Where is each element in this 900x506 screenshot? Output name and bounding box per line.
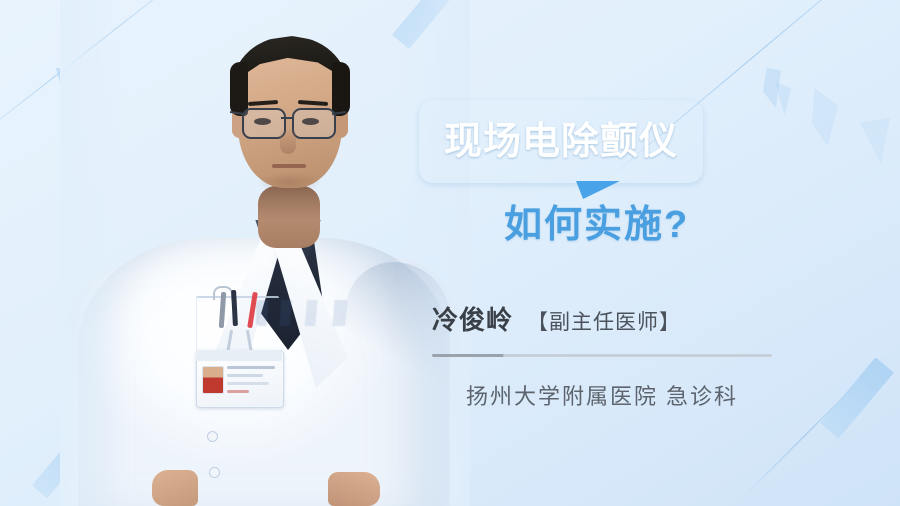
- hair-side-left: [230, 62, 248, 116]
- wedge-shape-right-c: [812, 88, 838, 146]
- id-badge-line-4: [227, 390, 249, 393]
- coat-button-upper: [208, 432, 217, 441]
- doctor-name: 冷俊岭: [432, 300, 513, 337]
- headline-line-1: 现场电除颤仪: [444, 123, 678, 161]
- id-badge-line-2: [227, 374, 263, 377]
- hand-right: [328, 472, 380, 506]
- headline-speech-bubble: 现场电除颤仪: [419, 100, 703, 183]
- doctor-name-row: 冷俊岭 【副主任医师】: [432, 300, 792, 337]
- id-badge-line-1: [227, 366, 275, 369]
- headline-line-2: 如何实施?: [504, 206, 689, 244]
- wedge-shape-right-a: [763, 68, 781, 108]
- chin-shading: [256, 172, 322, 192]
- hair-side-right: [332, 62, 350, 116]
- doctor-affiliation: 扬州大学附属医院 急诊科: [432, 379, 772, 411]
- glasses-lens-right: [292, 108, 336, 139]
- doctor-title: 【副主任医师】: [527, 306, 681, 336]
- id-badge-photo: [202, 366, 224, 394]
- photo-edge-fade-left: [60, 0, 124, 506]
- glasses-bridge: [281, 117, 294, 119]
- video-thumbnail-card: 现场电除颤仪 如何实施? 冷俊岭 【副主任医师】 扬州大学附属医院 急诊科: [0, 0, 900, 506]
- doctor-portrait-photo: [60, 0, 460, 506]
- mouth: [272, 164, 306, 168]
- photo-edge-fade-right: [396, 0, 470, 506]
- wedge-shape-right-d: [860, 118, 890, 164]
- speech-bubble-tail: [576, 181, 620, 199]
- hand-left: [152, 470, 198, 506]
- id-badge-line-3: [227, 382, 269, 385]
- nose: [280, 128, 296, 154]
- coat-embroidery-text: [256, 300, 360, 326]
- diagonal-stripe-bottom-right: [820, 357, 894, 438]
- doctor-info-block: 冷俊岭 【副主任医师】 扬州大学附属医院 急诊科: [432, 300, 792, 411]
- id-badge-header: [196, 350, 282, 361]
- wedge-shape-right-b: [775, 82, 791, 116]
- coat-button-lower: [210, 468, 219, 477]
- meta-divider: [432, 354, 772, 357]
